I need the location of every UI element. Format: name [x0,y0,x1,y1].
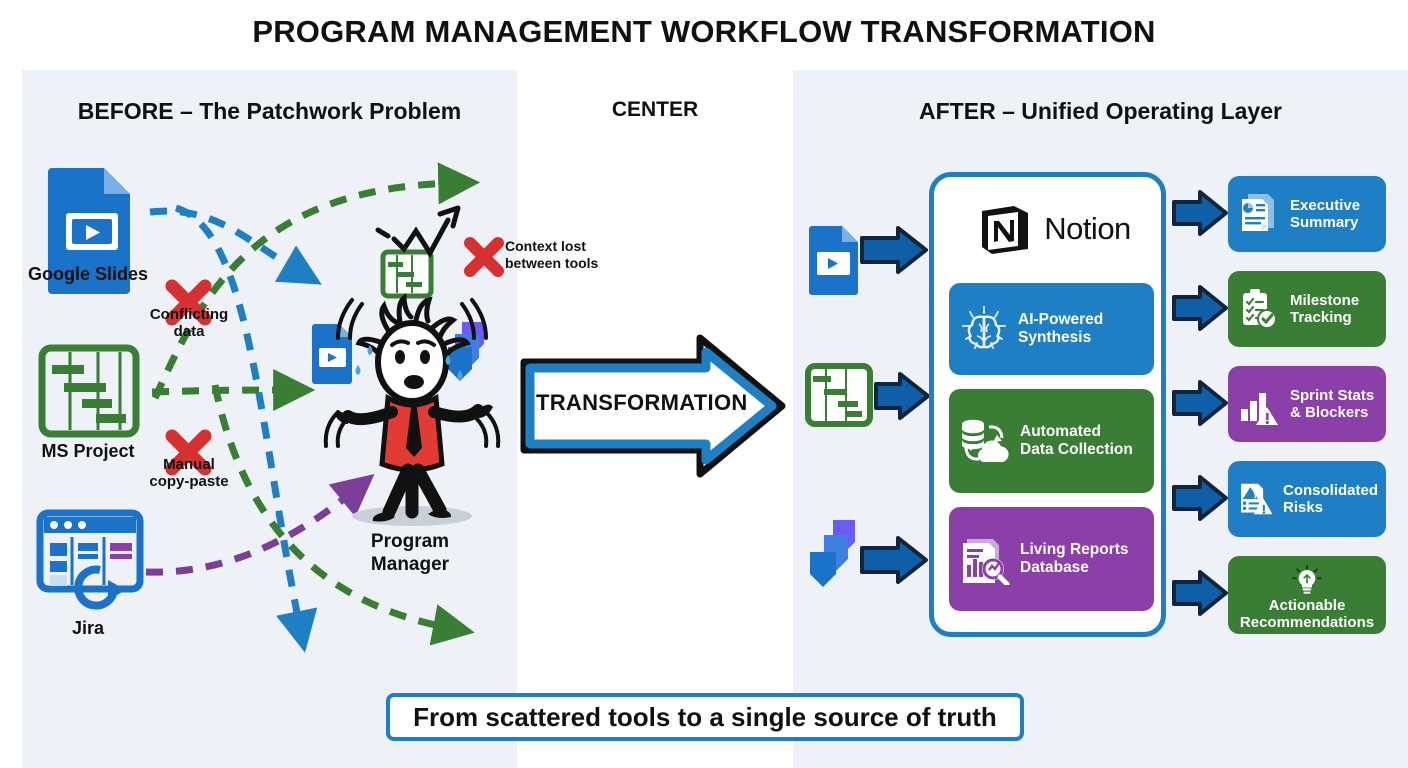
tool-label-google-slides: Google Slides [8,264,168,285]
capability-label-ai: AI-PoweredSynthesis [1018,311,1103,347]
notion-logo-icon [974,199,1034,259]
page-title: PROGRAM MANAGEMENT WORKFLOW TRANSFORMATI… [0,14,1408,50]
output-card-sprint-stats-blockers[interactable]: Sprint Stats& Blockers [1228,366,1386,442]
pain-manual-line1: Manual [124,456,254,473]
capability-label-living-reports: Living ReportsDatabase [1020,541,1129,577]
output-card-executive-summary[interactable]: ExecutiveSummary [1228,176,1386,252]
output-label-consolidated-risks: ConsolidatedRisks [1283,482,1378,517]
output-label-actionable-recommendations: ActionableRecommendations [1240,597,1374,632]
pain-conflicting-line1: Conflicting [124,306,254,323]
output-label-milestone-tracking: MilestoneTracking [1290,292,1359,327]
panel-after-title: AFTER – Unified Operating Layer [793,98,1408,125]
pain-manual-line2: copy-paste [124,473,254,490]
capability-living-reports-database[interactable]: Living ReportsDatabase [949,507,1154,611]
panel-center: CENTER [517,70,793,768]
risk-alert-icon [1236,476,1275,522]
context-lost-line1: Context lost [505,238,625,255]
database-cloud-icon [959,415,1011,467]
program-manager-label: Program Manager [330,531,490,577]
output-label-sprint-stats: Sprint Stats& Blockers [1290,387,1374,422]
output-label-executive-summary: ExecutiveSummary [1290,197,1360,232]
bottom-banner-text: From scattered tools to a single source … [413,702,997,733]
panel-center-title: CENTER [517,98,793,122]
lightbulb-icon [1290,565,1324,595]
capability-label-automated: AutomatedData Collection [1020,423,1133,459]
clipboard-check-icon [1236,286,1282,332]
transformation-label: TRANSFORMATION [536,390,746,416]
bottom-banner: From scattered tools to a single source … [386,693,1024,741]
tool-label-jira: Jira [8,618,168,639]
notion-hub-card[interactable]: Notion AI-PoweredSynthesis [929,172,1166,637]
context-lost-caption: Context lost between tools [505,238,625,272]
report-chart-icon [1236,191,1282,237]
context-lost-line2: between tools [505,255,625,272]
capability-automated-data-collection[interactable]: AutomatedData Collection [949,389,1154,493]
output-card-milestone-tracking[interactable]: MilestoneTracking [1228,271,1386,347]
program-manager-line1: Program [330,531,490,554]
pain-conflicting-line2: data [124,323,254,340]
notion-wordmark: Notion [1044,211,1131,247]
report-search-icon [959,533,1011,585]
output-card-consolidated-risks[interactable]: ConsolidatedRisks [1228,461,1386,537]
panel-before: BEFORE – The Patchwork Problem [22,70,517,768]
bar-chart-warning-icon [1236,381,1282,427]
notion-brand: Notion [934,191,1171,267]
brain-icon [959,304,1009,354]
capability-ai-powered-synthesis[interactable]: AI-PoweredSynthesis [949,283,1154,375]
output-card-actionable-recommendations[interactable]: ActionableRecommendations [1228,556,1386,634]
program-manager-line2: Manager [330,554,490,577]
panel-before-title: BEFORE – The Patchwork Problem [22,98,517,125]
